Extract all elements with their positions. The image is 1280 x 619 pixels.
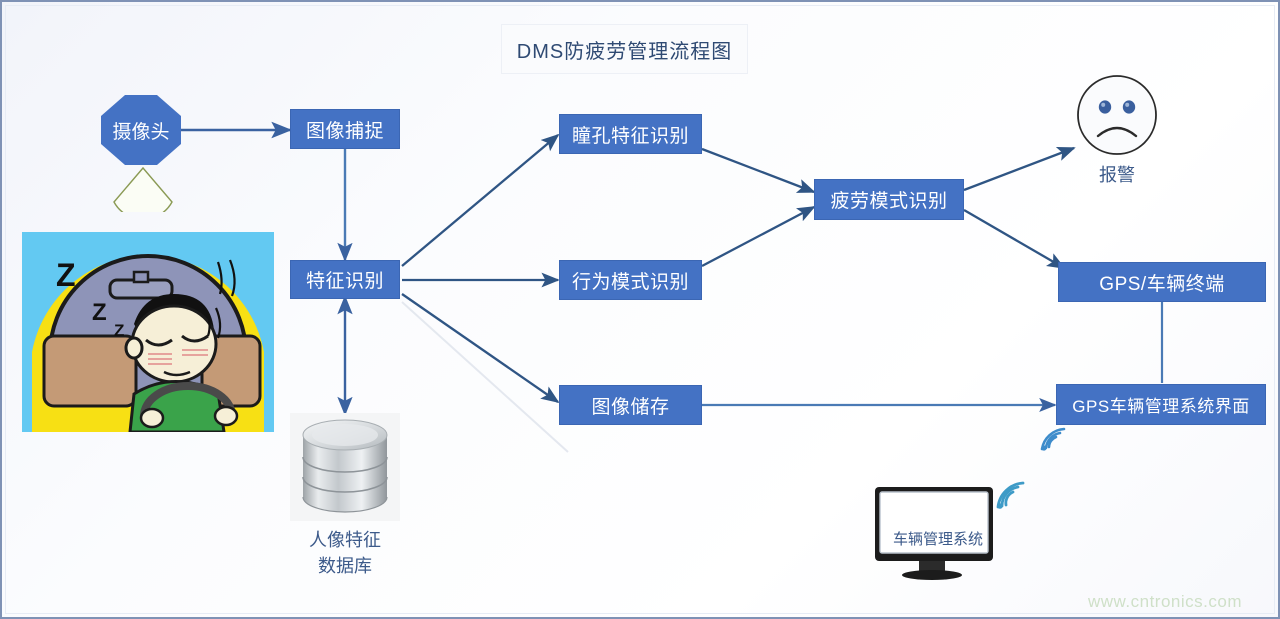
sleep-mark-z3: Z — [114, 321, 124, 340]
node-behavior-pattern[interactable]: 行为模式识别 — [559, 260, 702, 300]
node-gps-interface-label: GPS车辆管理系统界面 — [1072, 392, 1249, 417]
database-label-line1: 人像特征 — [270, 527, 420, 553]
diagram-title: DMS防疲劳管理流程图 — [501, 24, 748, 74]
sleep-mark-z1: Z — [56, 257, 76, 293]
alarm-sad-face-icon — [1076, 74, 1158, 156]
node-camera-label: 摄像头 — [112, 117, 169, 144]
camera-view-cone-icon — [110, 166, 176, 212]
drowsy-driver-cartoon: Z Z Z — [22, 232, 274, 432]
node-feature-recognition[interactable]: 特征识别 — [290, 260, 400, 299]
edge-fatigue-to-alarm — [964, 148, 1074, 190]
edge-pupil-to-fatigue — [702, 149, 814, 192]
drowsy-driver-illustration: Z Z Z — [22, 232, 274, 432]
edge-fatigue-to-gps-terminal — [964, 210, 1064, 268]
node-fatigue-pattern-label: 疲劳模式识别 — [830, 186, 947, 213]
node-camera[interactable]: 摄像头 — [101, 95, 181, 165]
sleep-mark-z2: Z — [92, 299, 107, 326]
node-pupil-feature[interactable]: 瞳孔特征识别 — [559, 114, 702, 154]
database-label: 人像特征 数据库 — [270, 527, 420, 579]
monitor-screen-label-text: 车辆管理系统 — [893, 531, 983, 548]
node-image-capture[interactable]: 图像捕捉 — [290, 109, 400, 149]
alarm-label-text: 报警 — [1099, 165, 1135, 185]
node-gps-terminal-label: GPS/车辆终端 — [1099, 269, 1224, 296]
database-cylinder-icon — [290, 413, 400, 521]
node-gps-terminal[interactable]: GPS/车辆终端 — [1058, 262, 1266, 302]
node-feature-recognition-label: 特征识别 — [306, 266, 384, 293]
node-fatigue-pattern[interactable]: 疲劳模式识别 — [814, 179, 964, 220]
node-image-storage[interactable]: 图像储存 — [559, 385, 702, 425]
node-behavior-pattern-label: 行为模式识别 — [572, 267, 689, 294]
edge-feature-recognition-to-image-storage — [402, 294, 558, 402]
database-label-line2: 数据库 — [270, 553, 420, 579]
wifi-signal-icon-interface — [1038, 426, 1068, 452]
node-image-capture-label: 图像捕捉 — [306, 116, 384, 143]
monitor-screen-label: 车辆管理系统 — [886, 528, 990, 549]
alarm-label: 报警 — [1077, 162, 1157, 188]
watermark: www.cntronics.com — [1088, 592, 1242, 612]
flowchart-canvas: DMS防疲劳管理流程图 摄像头 图像捕捉 特征识别 瞳孔特征识别 行为模式识别 … — [0, 0, 1280, 619]
node-image-storage-label: 图像储存 — [591, 392, 669, 419]
edge-behavior-to-fatigue — [702, 207, 814, 266]
node-pupil-feature-label: 瞳孔特征识别 — [572, 121, 689, 148]
wifi-signal-icon-monitor — [993, 480, 1027, 510]
watermark-text: www.cntronics.com — [1088, 592, 1242, 611]
edge-ghost-line — [402, 302, 568, 452]
diagram-title-text: DMS防疲劳管理流程图 — [517, 35, 732, 64]
node-gps-interface[interactable]: GPS车辆管理系统界面 — [1056, 384, 1266, 425]
edge-feature-recognition-to-pupil — [402, 135, 558, 266]
